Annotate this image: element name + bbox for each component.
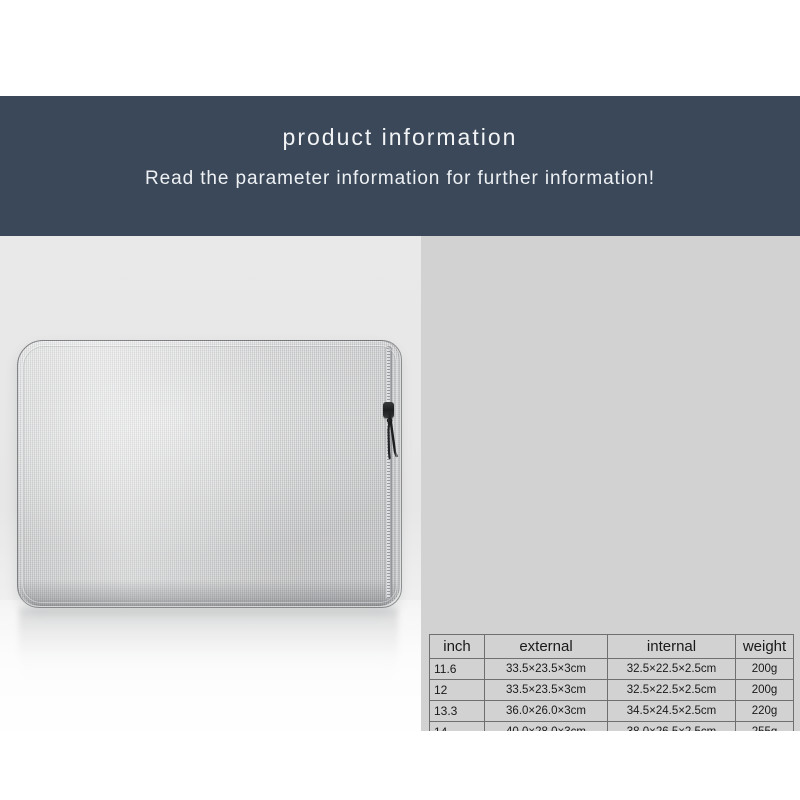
- laptop-sleeve-photo: [17, 340, 400, 606]
- column-header-weight: weight: [736, 635, 794, 659]
- product-information-page: product information Read the parameter i…: [0, 0, 800, 800]
- cell-weight: 200g: [736, 680, 794, 701]
- table-row: 13.3 36.0×26.0×3cm 34.5×24.5×2.5cm 220g: [430, 701, 794, 722]
- column-header-external: external: [485, 635, 608, 659]
- cell-internal: 34.5×24.5×2.5cm: [608, 701, 736, 722]
- cell-external: 33.5×23.5×3cm: [485, 659, 608, 680]
- cell-weight: 200g: [736, 659, 794, 680]
- product-reflection: [19, 608, 398, 682]
- bottom-white-margin: [0, 731, 800, 800]
- top-white-margin: [0, 0, 800, 96]
- cell-inch: 12: [430, 680, 485, 701]
- page-subtitle: Read the parameter information for furth…: [0, 168, 800, 190]
- sleeve-piping: [22, 345, 397, 603]
- cell-external: 36.0×26.0×3cm: [485, 701, 608, 722]
- page-title: product information: [0, 124, 800, 151]
- header-banner: product information Read the parameter i…: [0, 96, 800, 236]
- column-header-inch: inch: [430, 635, 485, 659]
- cell-internal: 32.5×22.5×2.5cm: [608, 680, 736, 701]
- table-header-row: inch external internal weight: [430, 635, 794, 659]
- cell-internal: 32.5×22.5×2.5cm: [608, 659, 736, 680]
- cell-weight: 220g: [736, 701, 794, 722]
- product-photo-stage: inch external internal weight 11.6 33.5×…: [0, 236, 800, 731]
- cell-inch: 11.6: [430, 659, 485, 680]
- table-row: 11.6 33.5×23.5×3cm 32.5×22.5×2.5cm 200g: [430, 659, 794, 680]
- cell-external: 33.5×23.5×3cm: [485, 680, 608, 701]
- table-row: 12 33.5×23.5×3cm 32.5×22.5×2.5cm 200g: [430, 680, 794, 701]
- column-header-internal: internal: [608, 635, 736, 659]
- cell-inch: 13.3: [430, 701, 485, 722]
